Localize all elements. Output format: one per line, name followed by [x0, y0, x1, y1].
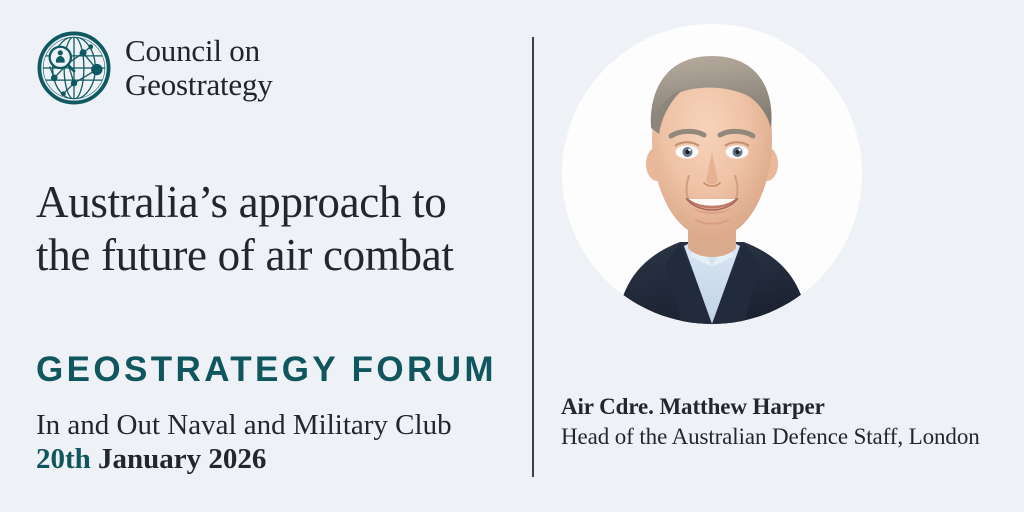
left-content-column: Council on Geostrategy Australia’s appro…	[0, 0, 520, 512]
globe-network-magnifier-icon	[36, 30, 112, 106]
speaker-role: Head of the Australian Defence Staff, Lo…	[561, 422, 1016, 452]
event-date-day: 20th	[36, 443, 91, 475]
event-title: Australia’s approach to the future of ai…	[36, 176, 506, 282]
speaker-name: Air Cdre. Matthew Harper	[561, 393, 1016, 422]
event-date-month-year: January 2026	[98, 443, 266, 475]
right-content-column: Air Cdre. Matthew Harper Head of the Aus…	[534, 0, 1024, 512]
event-date: 20th January 2026	[36, 443, 266, 476]
speaker-portrait-frame	[562, 24, 862, 324]
event-venue: In and Out Naval and Military Club	[36, 409, 452, 442]
speaker-details: Air Cdre. Matthew Harper Head of the Aus…	[561, 393, 1016, 452]
event-promo-card: Council on Geostrategy Australia’s appro…	[0, 0, 1024, 512]
event-series-label: GEOSTRATEGY FORUM	[36, 350, 497, 390]
brand-wordmark: Council on Geostrategy	[125, 34, 273, 102]
brand-lockup: Council on Geostrategy	[36, 30, 273, 106]
speaker-portrait-photo	[562, 24, 862, 324]
